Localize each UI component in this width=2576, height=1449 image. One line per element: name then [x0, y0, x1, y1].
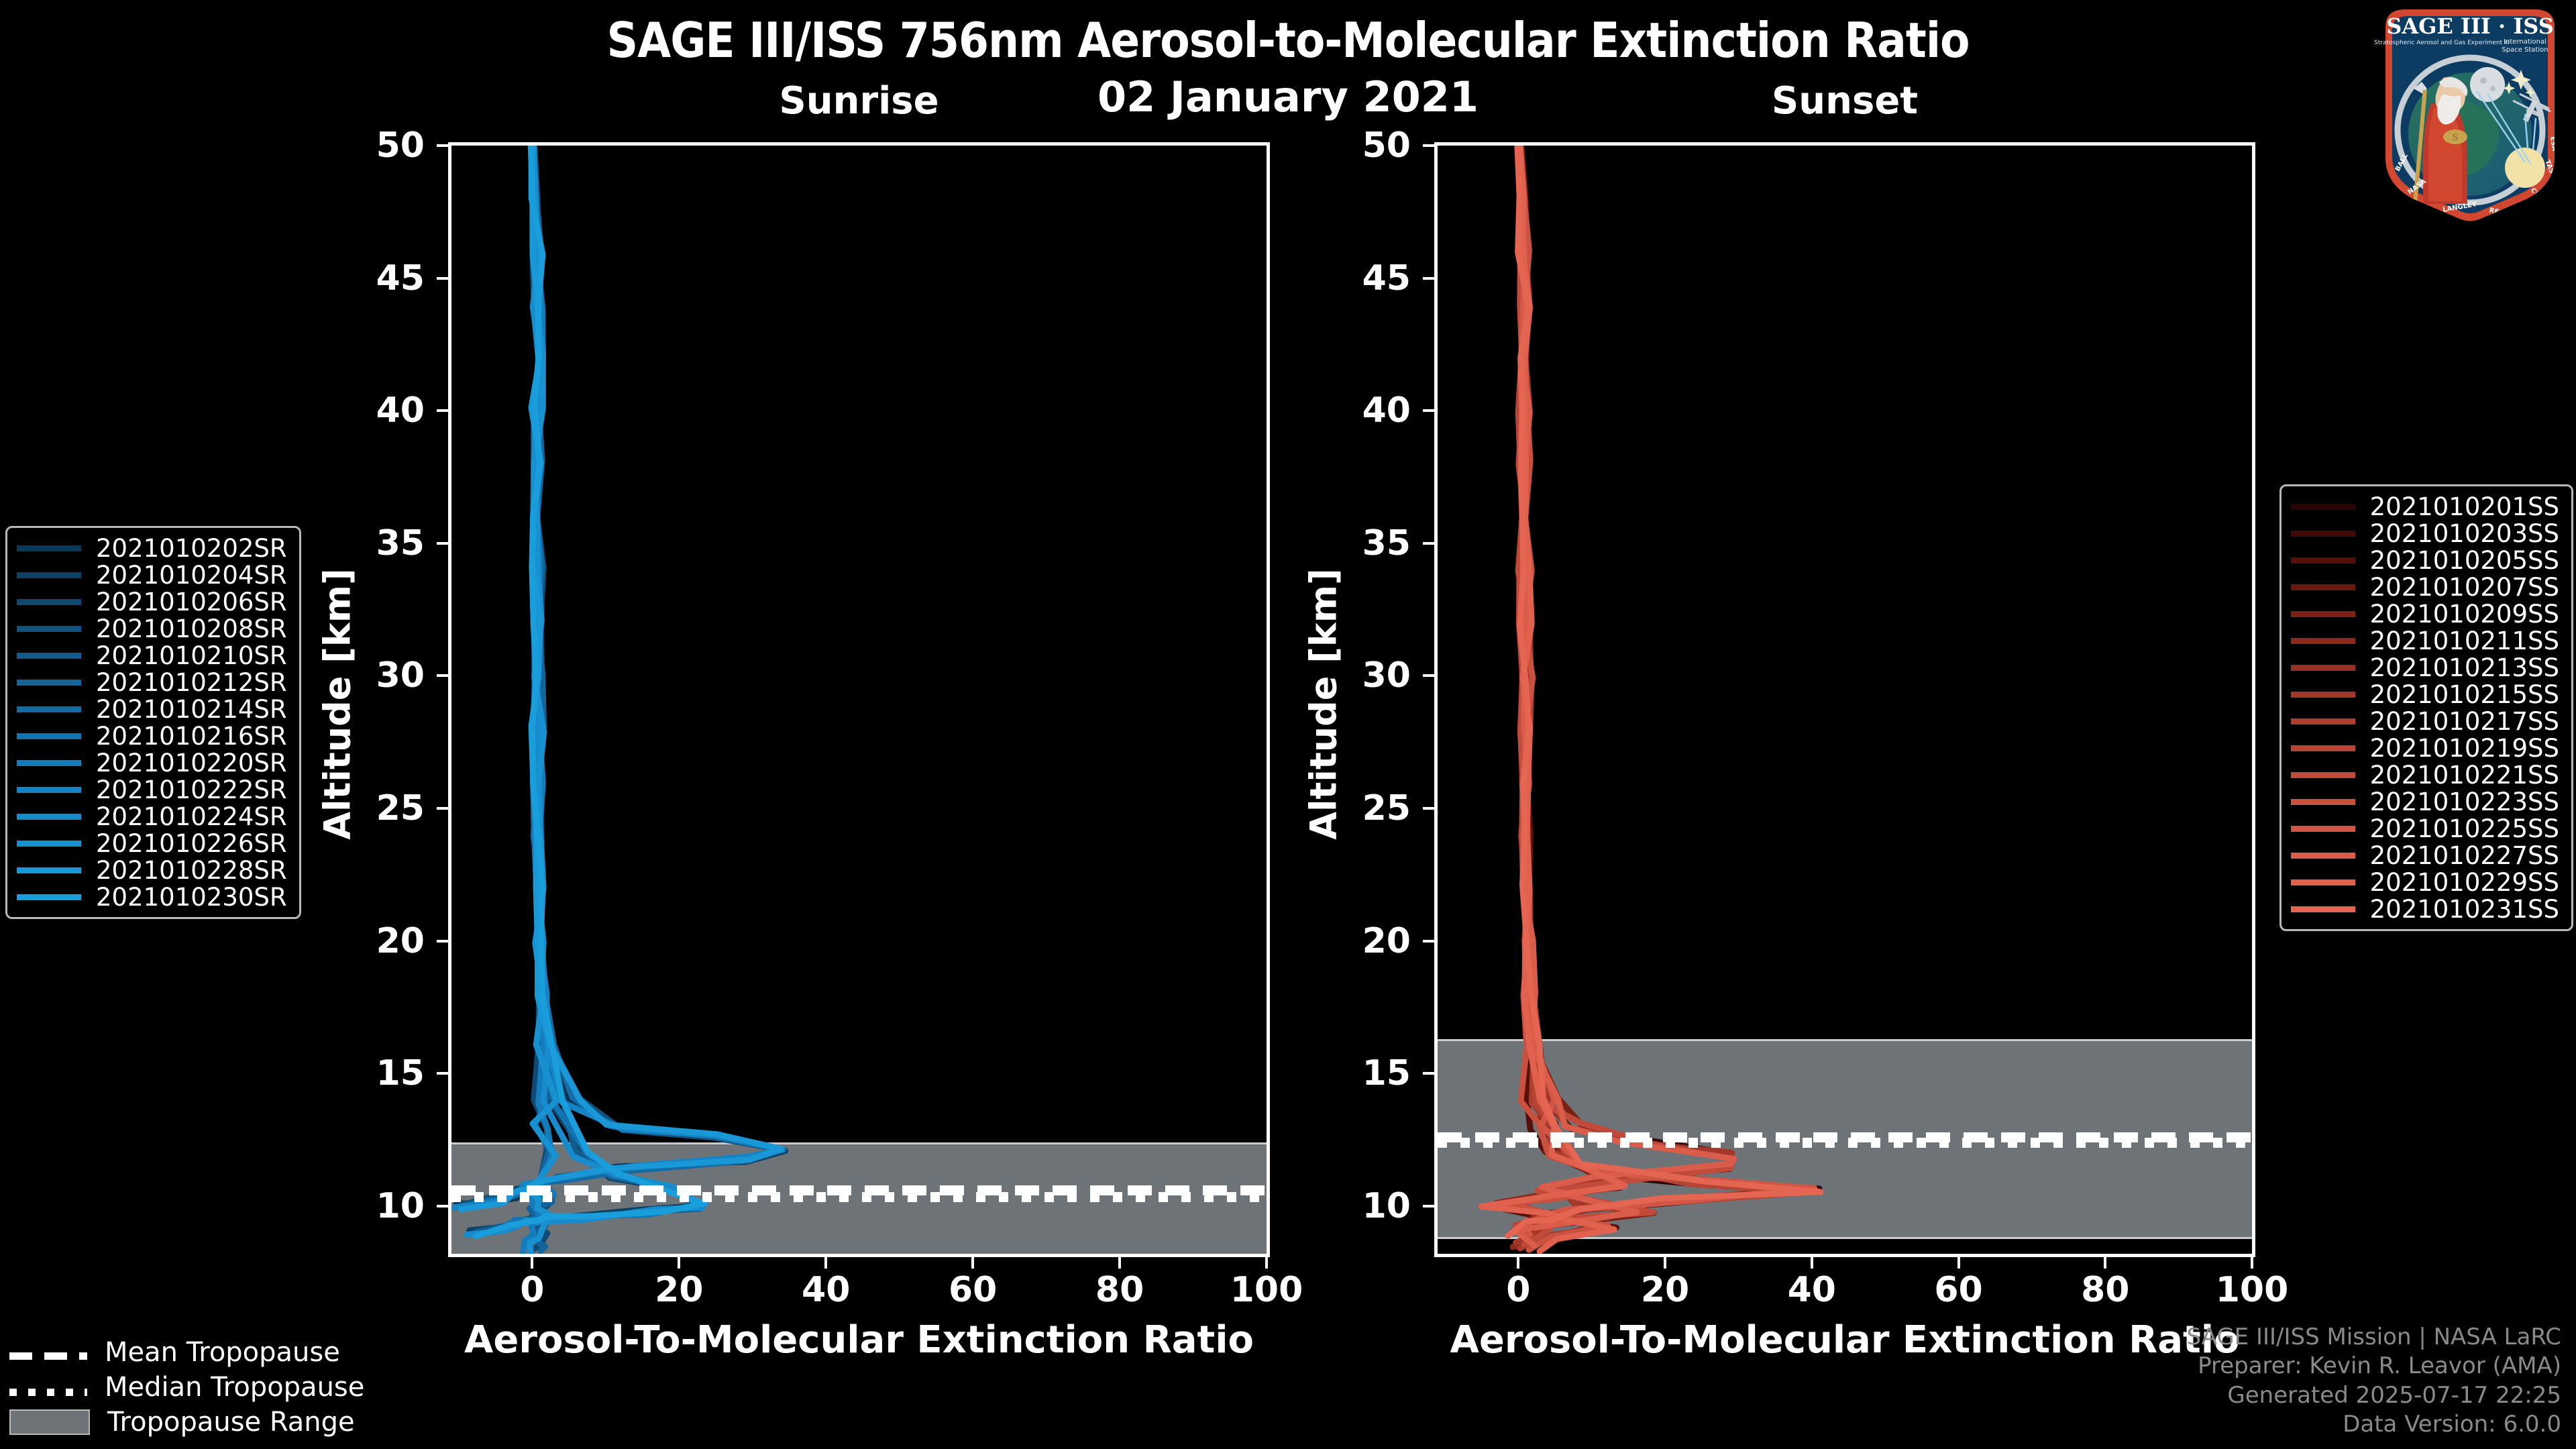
sunrise-panel-label: Sunrise	[448, 79, 1270, 123]
x-axis-tick-label: 60	[906, 1270, 1040, 1310]
sage-iii-iss-logo: S BALL NASA LANGLEY RESEARCH CENTER TAS-…	[2369, 3, 2571, 224]
credit-line: Generated 2025-07-17 22:25	[2186, 1381, 2561, 1411]
y-axis-tick	[1423, 1205, 1438, 1207]
y-axis-tick	[1423, 542, 1438, 545]
y-axis-tick	[1423, 144, 1438, 147]
y-axis-label: 45	[324, 258, 425, 299]
legend-item-label: 2021010219SS	[2370, 734, 2559, 763]
legend-item[interactable]: 2021010231SS	[2291, 896, 2559, 922]
legend-item-label: 2021010230SR	[96, 883, 287, 912]
legend-item-label: 2021010228SR	[96, 856, 287, 885]
legend-color-swatch	[2291, 906, 2355, 912]
legend-item[interactable]: 2021010213SS	[2291, 654, 2559, 681]
legend-color-swatch	[17, 733, 81, 739]
series-line	[466, 149, 702, 1235]
legend-item-label: 2021010210SR	[96, 641, 287, 670]
y-axis-tick	[437, 1072, 451, 1075]
y-axis-tick	[1423, 807, 1438, 810]
x-axis-tick	[1517, 1254, 1519, 1269]
y-axis-tick	[437, 674, 451, 677]
legend-item[interactable]: 2021010202SR	[17, 535, 287, 561]
x-axis-tick	[2251, 1254, 2253, 1269]
y-axis-tick	[1423, 277, 1438, 280]
legend-item[interactable]: 2021010224SR	[17, 803, 287, 830]
series-line	[463, 146, 784, 1205]
legend-item-label: 2021010212SR	[96, 668, 287, 697]
x-axis-tick-label: 80	[2038, 1270, 2172, 1310]
x-axis-tick	[1664, 1254, 1666, 1269]
series-line	[1517, 149, 1815, 1234]
legend-item-label: 2021010215SS	[2370, 680, 2559, 709]
legend-item[interactable]: 2021010209SS	[2291, 600, 2559, 627]
series-line	[1519, 146, 1802, 1230]
legend-item[interactable]: 2021010227SS	[2291, 842, 2559, 869]
legend-item-label: 2021010229SS	[2370, 868, 2559, 897]
x-axis-tick	[1957, 1254, 1960, 1269]
legend-color-swatch	[17, 814, 81, 820]
x-axis-tick	[1118, 1254, 1121, 1269]
legend-item-label: 2021010202SR	[96, 534, 287, 563]
legend-item[interactable]: 2021010208SR	[17, 615, 287, 642]
legend-item[interactable]: 2021010211SS	[2291, 627, 2559, 654]
x-axis-tick-label: 20	[612, 1270, 746, 1310]
legend-item-label: 2021010222SR	[96, 775, 287, 804]
legend-item[interactable]: 2021010220SR	[17, 749, 287, 776]
tropopause-legend-item[interactable]: Median Tropopause	[9, 1370, 364, 1405]
y-axis-title: Altitude [km]	[317, 503, 359, 906]
legend-item-label: 2021010201SS	[2370, 492, 2559, 521]
series-lines	[1438, 146, 2252, 1254]
legend-color-swatch	[17, 787, 81, 793]
x-axis-tick	[824, 1254, 827, 1269]
svg-text:RESEARCH: RESEARCH	[2488, 207, 2529, 223]
x-axis-tick	[1811, 1254, 1813, 1269]
sunrise-legend[interactable]: 2021010202SR2021010204SR2021010206SR2021…	[5, 526, 301, 919]
series-line	[462, 146, 782, 1210]
y-axis-label: 45	[1310, 258, 1411, 299]
sunset-panel-label: Sunset	[1434, 79, 2255, 123]
series-line	[476, 146, 700, 1232]
y-axis-title: Altitude [km]	[1303, 503, 1345, 906]
legend-item[interactable]: 2021010223SS	[2291, 788, 2559, 815]
y-axis-label: 50	[1310, 125, 1411, 166]
legend-item[interactable]: 2021010225SS	[2291, 815, 2559, 842]
legend-color-swatch	[17, 867, 81, 873]
legend-item-label: 2021010225SS	[2370, 814, 2559, 843]
legend-color-swatch	[2291, 692, 2355, 698]
x-axis-tick	[971, 1254, 974, 1269]
y-axis-tick	[1423, 1072, 1438, 1075]
sunset-legend[interactable]: 2021010201SS2021010203SS2021010205SS2021…	[2279, 484, 2573, 931]
legend-color-swatch	[2291, 879, 2355, 885]
legend-item[interactable]: 2021010230SR	[17, 883, 287, 910]
series-lines	[451, 146, 1267, 1254]
y-axis-tick	[437, 807, 451, 810]
legend-color-swatch	[2291, 504, 2355, 510]
series-line	[1515, 147, 1810, 1233]
legend-item-label: 2021010214SR	[96, 695, 287, 724]
legend-color-swatch	[17, 760, 81, 766]
series-line	[485, 146, 702, 1233]
x-axis-title: Aerosol-To-Molecular Extinction Ratio	[1434, 1318, 2255, 1362]
legend-item[interactable]: 2021010228SR	[17, 857, 287, 883]
legend-item[interactable]: 2021010219SS	[2291, 735, 2559, 761]
series-line	[476, 146, 704, 1236]
y-axis-tick	[437, 409, 451, 412]
sunset-plot-area[interactable]	[1438, 146, 2252, 1254]
x-axis-tick-label: 0	[1451, 1270, 1585, 1310]
legend-color-swatch	[2291, 638, 2355, 644]
x-axis-tick-label: 40	[1745, 1270, 1879, 1310]
x-axis-tick-label: 100	[2185, 1270, 2319, 1310]
legend-color-swatch	[2291, 557, 2355, 563]
y-axis-label: 40	[1310, 390, 1411, 431]
series-line	[471, 148, 784, 1206]
legend-color-swatch	[2291, 665, 2355, 671]
legend-color-swatch	[2291, 584, 2355, 590]
tropopause-legend-label: Median Tropopause	[105, 1372, 364, 1403]
legend-item-label: 2021010224SR	[96, 802, 287, 831]
legend-item-label: 2021010213SS	[2370, 653, 2559, 682]
legend-item-label: 2021010211SS	[2370, 627, 2559, 655]
y-axis-label: 15	[1310, 1053, 1411, 1093]
legend-item-label: 2021010208SR	[96, 614, 287, 643]
logo-subtitle-left: Stratospheric Aerosol and Gas Experiment…	[2374, 40, 2510, 46]
legend-item[interactable]: 2021010206SR	[17, 588, 287, 615]
series-line	[1493, 146, 1620, 1245]
legend-color-swatch	[17, 706, 81, 712]
svg-text:S: S	[2453, 133, 2459, 143]
legend-item-label: 2021010206SR	[96, 588, 287, 616]
legend-item-label: 2021010220SR	[96, 749, 287, 777]
legend-color-swatch	[2291, 799, 2355, 805]
legend-color-swatch	[2291, 611, 2355, 617]
y-axis-tick	[1423, 674, 1438, 677]
legend-item[interactable]: 2021010214SR	[17, 696, 287, 722]
x-axis-tick-label: 60	[1892, 1270, 2026, 1310]
legend-item-label: 2021010221SS	[2370, 761, 2559, 790]
legend-color-swatch	[17, 680, 81, 686]
y-axis-label: 10	[324, 1186, 425, 1226]
credit-line: SAGE III/ISS Mission | NASA LaRC	[2186, 1323, 2561, 1352]
series-line	[1519, 148, 1819, 1236]
legend-color-swatch	[17, 572, 81, 578]
legend-item-label: 2021010216SR	[96, 722, 287, 751]
tropopause-legend[interactable]: Mean TropopauseMedian TropopauseTropopau…	[9, 1335, 364, 1440]
legend-item[interactable]: 2021010216SR	[17, 722, 287, 749]
series-line	[453, 146, 782, 1207]
page-title: SAGE III/ISS 756nm Aerosol-to-Molecular …	[0, 12, 2576, 68]
x-axis-tick-label: 100	[1199, 1270, 1334, 1310]
legend-item-label: 2021010207SS	[2370, 573, 2559, 602]
legend-item-label: 2021010223SS	[2370, 788, 2559, 816]
series-line	[457, 146, 786, 1204]
x-axis-tick-label: 80	[1053, 1270, 1187, 1310]
legend-item[interactable]: 2021010221SS	[2291, 761, 2559, 788]
legend-item-label: 2021010203SS	[2370, 519, 2559, 548]
svg-text:CENTER: CENTER	[2529, 186, 2555, 213]
legend-item[interactable]: 2021010222SR	[17, 776, 287, 803]
y-axis-label: 40	[324, 390, 425, 431]
sunset-plot-panel	[1434, 142, 2255, 1257]
y-axis-label: 10	[1310, 1186, 1411, 1226]
y-axis-label: 20	[1310, 921, 1411, 961]
legend-color-swatch	[2291, 718, 2355, 724]
legend-item[interactable]: 2021010229SS	[2291, 869, 2559, 896]
tropopause-range-swatch	[9, 1409, 90, 1435]
sunrise-plot-panel	[448, 142, 1270, 1257]
median-tropopause-swatch	[9, 1379, 87, 1395]
tropopause-legend-item[interactable]: Tropopause Range	[9, 1405, 364, 1440]
mean-tropopause-swatch	[9, 1344, 87, 1360]
y-axis-label: 15	[324, 1053, 425, 1093]
y-axis-tick	[437, 277, 451, 280]
legend-color-swatch	[17, 894, 81, 900]
median-tropopause-line	[451, 1192, 1267, 1202]
series-line	[1497, 146, 1621, 1247]
series-line	[470, 146, 698, 1230]
x-axis-tick	[2104, 1254, 2106, 1269]
legend-color-swatch	[2291, 772, 2355, 778]
legend-item[interactable]: 2021010212SR	[17, 669, 287, 696]
legend-item[interactable]: 2021010203SS	[2291, 520, 2559, 547]
x-axis-tick	[678, 1254, 680, 1269]
legend-item-label: 2021010231SS	[2370, 895, 2559, 924]
y-axis-label: 20	[324, 921, 425, 961]
legend-item[interactable]: 2021010207SS	[2291, 574, 2559, 600]
series-line	[1519, 148, 1731, 1241]
credits-block: SAGE III/ISS Mission | NASA LaRCPreparer…	[2186, 1323, 2561, 1440]
sunrise-plot-area[interactable]	[451, 146, 1267, 1254]
legend-color-swatch	[17, 841, 81, 847]
legend-item[interactable]: 2021010226SR	[17, 830, 287, 857]
legend-color-swatch	[17, 599, 81, 605]
y-axis-label: 50	[324, 125, 425, 166]
legend-item[interactable]: 2021010215SS	[2291, 681, 2559, 708]
legend-color-swatch	[17, 653, 81, 659]
legend-item[interactable]: 2021010210SR	[17, 642, 287, 669]
legend-color-swatch	[17, 626, 81, 632]
legend-item-label: 2021010226SR	[96, 829, 287, 858]
logo-subtitle-right-2: Space Station	[2502, 46, 2548, 54]
y-axis-tick	[1423, 940, 1438, 943]
series-line	[1513, 146, 1805, 1232]
y-axis-tick	[1423, 409, 1438, 412]
y-axis-tick	[437, 940, 451, 943]
legend-color-swatch	[2291, 826, 2355, 832]
legend-color-swatch	[2291, 745, 2355, 751]
legend-item[interactable]: 2021010217SS	[2291, 708, 2559, 735]
x-axis-tick-label: 40	[759, 1270, 893, 1310]
legend-color-swatch	[2291, 531, 2355, 537]
x-axis-tick-label: 20	[1598, 1270, 1732, 1310]
tropopause-legend-item[interactable]: Mean Tropopause	[9, 1335, 364, 1370]
logo-subtitle-right-1: International	[2504, 38, 2546, 46]
legend-item-label: 2021010205SS	[2370, 546, 2559, 575]
legend-item[interactable]: 2021010201SS	[2291, 493, 2559, 520]
tropopause-legend-label: Mean Tropopause	[105, 1337, 340, 1368]
credit-line: Preparer: Kevin R. Leavor (AMA)	[2186, 1352, 2561, 1381]
legend-item-label: 2021010227SS	[2370, 841, 2559, 870]
y-axis-tick	[437, 542, 451, 545]
logo-title: SAGE III · ISS	[2386, 13, 2554, 39]
legend-item-label: 2021010217SS	[2370, 707, 2559, 736]
legend-item[interactable]: 2021010205SS	[2291, 547, 2559, 574]
legend-item-label: 2021010209SS	[2370, 600, 2559, 629]
median-tropopause-line	[1438, 1138, 2252, 1148]
legend-item-label: 2021010204SR	[96, 561, 287, 590]
series-line	[1515, 147, 1734, 1245]
x-axis-tick-label: 0	[465, 1270, 599, 1310]
tropopause-legend-label: Tropopause Range	[107, 1407, 355, 1438]
legend-item[interactable]: 2021010204SR	[17, 561, 287, 588]
legend-color-swatch	[17, 545, 81, 551]
series-line	[1520, 146, 1730, 1240]
credit-line: Data Version: 6.0.0	[2186, 1410, 2561, 1440]
x-axis-tick	[531, 1254, 533, 1269]
y-axis-tick	[437, 1205, 451, 1207]
y-axis-tick	[437, 144, 451, 147]
x-axis-tick	[1265, 1254, 1268, 1269]
series-line	[1508, 146, 1821, 1236]
x-axis-title: Aerosol-To-Molecular Extinction Ratio	[448, 1318, 1270, 1362]
legend-color-swatch	[2291, 853, 2355, 859]
